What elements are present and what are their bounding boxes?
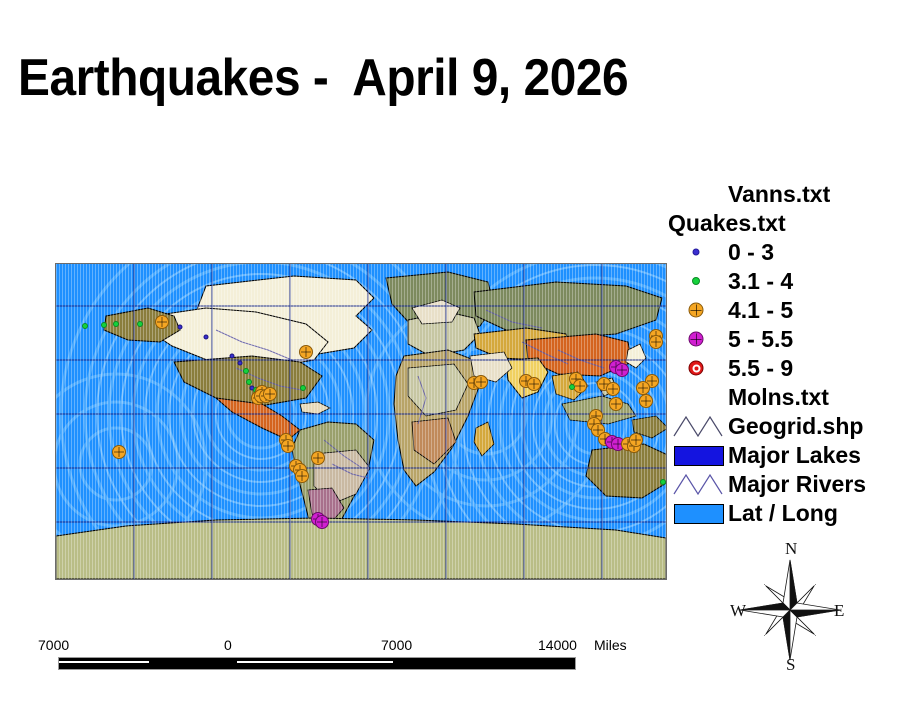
legend-item-geogrid[interactable]: Geogrid.shp	[668, 412, 916, 441]
earthquake-marker[interactable]	[629, 433, 643, 447]
legend-header-quakes-label: Quakes.txt	[668, 209, 786, 238]
earthquake-marker[interactable]	[660, 479, 666, 485]
legend-label-quake-4: 5.5 - 9	[728, 354, 793, 383]
compass-rose: N S W E	[730, 540, 850, 680]
earthquake-marker[interactable]	[573, 379, 587, 393]
earthquake-marker[interactable]	[474, 375, 488, 389]
quake-symbol-3-4	[668, 267, 724, 296]
earthquake-marker[interactable]	[606, 382, 620, 396]
map-canvas[interactable]	[55, 263, 667, 580]
major-rivers-symbol	[668, 470, 724, 499]
small-blue-dot-icon	[693, 249, 700, 256]
legend-label-major-rivers: Major Rivers	[728, 470, 866, 499]
legend-header-molns: Molns.txt	[668, 383, 916, 412]
earthquake-marker[interactable]	[243, 368, 249, 374]
earthquake-marker[interactable]	[178, 325, 183, 330]
earthquake-marker[interactable]	[300, 385, 306, 391]
legend-label-quake-0: 0 - 3	[728, 238, 774, 267]
legend-label-quake-2: 4.1 - 5	[728, 296, 793, 325]
earthquake-marker[interactable]	[281, 439, 295, 453]
major-lakes-symbol	[668, 441, 724, 470]
quake-symbol-4-5	[668, 296, 724, 325]
zigzag-line-icon	[672, 414, 724, 439]
legend-label-geogrid: Geogrid.shp	[728, 412, 863, 441]
legend: Vanns.txt Quakes.txt 0 - 3 3.1 - 4 4.1 -…	[668, 180, 916, 528]
scale-units-label: Miles	[594, 636, 627, 654]
red-target-circle-icon	[689, 361, 704, 376]
earthquake-marker[interactable]	[238, 361, 243, 366]
legend-item-major-lakes[interactable]: Major Lakes	[668, 441, 916, 470]
legend-item-quake-0[interactable]: 0 - 3	[668, 238, 916, 267]
legend-item-quake-2[interactable]: 4.1 - 5	[668, 296, 916, 325]
earthquake-marker[interactable]	[311, 451, 325, 465]
earthquake-marker[interactable]	[639, 394, 653, 408]
scale-tick-0: 7000	[38, 636, 69, 654]
earthquake-marker[interactable]	[315, 515, 329, 529]
scale-tick-2: 7000	[381, 636, 412, 654]
earthquake-marker[interactable]	[112, 445, 126, 459]
earthquake-marker[interactable]	[527, 377, 541, 391]
quake-symbol-0-3	[668, 238, 724, 267]
scale-bar-labels: 7000 0 7000 14000 Miles	[38, 636, 638, 654]
page-title: Earthquakes - April 9, 2026	[18, 50, 628, 106]
legend-item-quake-3[interactable]: 5 - 5.5	[668, 325, 916, 354]
orange-cross-circle-icon	[689, 303, 704, 318]
earthquake-marker[interactable]	[82, 323, 88, 329]
compass-west-label: W	[730, 602, 746, 619]
magenta-cross-circle-icon	[689, 332, 704, 347]
scale-bar: 7000 0 7000 14000 Miles	[38, 636, 638, 654]
earthquake-marker[interactable]	[569, 384, 575, 390]
quake-symbol-5-55	[668, 325, 724, 354]
earthquake-marker[interactable]	[204, 335, 209, 340]
small-green-dot-icon	[692, 277, 700, 285]
legend-item-quake-1[interactable]: 3.1 - 4	[668, 267, 916, 296]
legend-item-lat-long[interactable]: Lat / Long	[668, 499, 916, 528]
legend-label-lat-long: Lat / Long	[728, 499, 838, 528]
earthquake-marker-layer	[56, 264, 666, 579]
compass-east-label: E	[834, 602, 844, 619]
map-layers	[56, 264, 666, 579]
scale-tick-3: 14000	[538, 636, 577, 654]
legend-item-quake-4[interactable]: 5.5 - 9	[668, 354, 916, 383]
earthquake-marker[interactable]	[230, 354, 235, 359]
legend-header-molns-label: Molns.txt	[728, 383, 829, 412]
earthquake-marker[interactable]	[155, 315, 169, 329]
earthquake-marker[interactable]	[295, 469, 309, 483]
legend-label-quake-3: 5 - 5.5	[728, 325, 793, 354]
geogrid-symbol	[668, 412, 724, 441]
scale-tick-1: 0	[224, 636, 232, 654]
lat-long-symbol	[668, 499, 724, 528]
map-poster: Earthquakes - April 9, 2026	[0, 0, 919, 710]
legend-item-major-rivers[interactable]: Major Rivers	[668, 470, 916, 499]
legend-header-quakes: Quakes.txt	[668, 209, 916, 238]
earthquake-marker[interactable]	[649, 335, 663, 349]
earthquake-marker[interactable]	[636, 381, 650, 395]
scale-bar-graphic	[58, 657, 576, 670]
earthquake-marker[interactable]	[137, 321, 143, 327]
zigzag-line-icon	[672, 472, 724, 497]
earthquake-marker[interactable]	[101, 322, 107, 328]
earthquake-marker[interactable]	[263, 387, 277, 401]
quake-symbol-55-9	[668, 354, 724, 383]
earthquake-marker[interactable]	[113, 321, 119, 327]
compass-north-label: N	[785, 540, 797, 557]
legend-label-quake-1: 3.1 - 4	[728, 267, 793, 296]
earthquake-marker[interactable]	[615, 363, 629, 377]
legend-header-vanns-label: Vanns.txt	[728, 180, 830, 209]
earthquake-marker[interactable]	[299, 345, 313, 359]
legend-header-vanns: Vanns.txt	[668, 180, 916, 209]
fill-swatch-icon	[674, 504, 724, 524]
earthquake-marker[interactable]	[246, 379, 252, 385]
earthquake-marker[interactable]	[609, 397, 623, 411]
compass-south-label: S	[786, 656, 795, 673]
legend-label-major-lakes: Major Lakes	[728, 441, 861, 470]
fill-swatch-icon	[674, 446, 724, 466]
